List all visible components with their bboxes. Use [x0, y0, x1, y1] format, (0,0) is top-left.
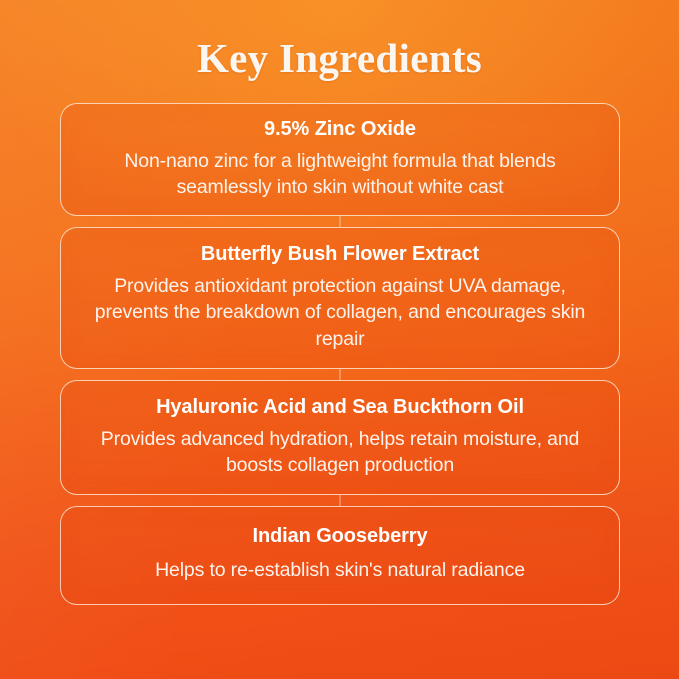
ingredient-card-wrapper-3: Hyaluronic Acid and Sea Buckthorn Oil Pr… [60, 380, 620, 495]
ingredient-description: Helps to re-establish skin's natural rad… [83, 557, 597, 583]
ingredient-card: Hyaluronic Acid and Sea Buckthorn Oil Pr… [60, 380, 620, 495]
ingredient-card: 9.5% Zinc Oxide Non-nano zinc for a ligh… [60, 103, 620, 216]
ingredient-name: Hyaluronic Acid and Sea Buckthorn Oil [83, 395, 597, 420]
ingredient-name: 9.5% Zinc Oxide [83, 117, 597, 142]
ingredient-card: Butterfly Bush Flower Extract Provides a… [60, 227, 620, 368]
ingredient-description: Provides advanced hydration, helps retai… [83, 426, 597, 478]
ingredient-description: Non-nano zinc for a lightweight formula … [83, 148, 597, 200]
ingredient-name: Indian Gooseberry [83, 524, 597, 549]
ingredient-name: Butterfly Bush Flower Extract [83, 242, 597, 267]
ingredient-card-wrapper-4: Indian Gooseberry Helps to re-establish … [60, 506, 620, 605]
ingredient-card-wrapper-1: 9.5% Zinc Oxide Non-nano zinc for a ligh… [60, 103, 620, 216]
ingredient-description: Provides antioxidant protection against … [83, 273, 597, 351]
ingredient-card-list: 9.5% Zinc Oxide Non-nano zinc for a ligh… [60, 103, 620, 605]
key-ingredients-poster: Key Ingredients 9.5% Zinc Oxide Non-nano… [0, 0, 679, 679]
page-title: Key Ingredients [0, 0, 679, 81]
ingredient-card-wrapper-2: Butterfly Bush Flower Extract Provides a… [60, 227, 620, 368]
ingredient-card: Indian Gooseberry Helps to re-establish … [60, 506, 620, 605]
